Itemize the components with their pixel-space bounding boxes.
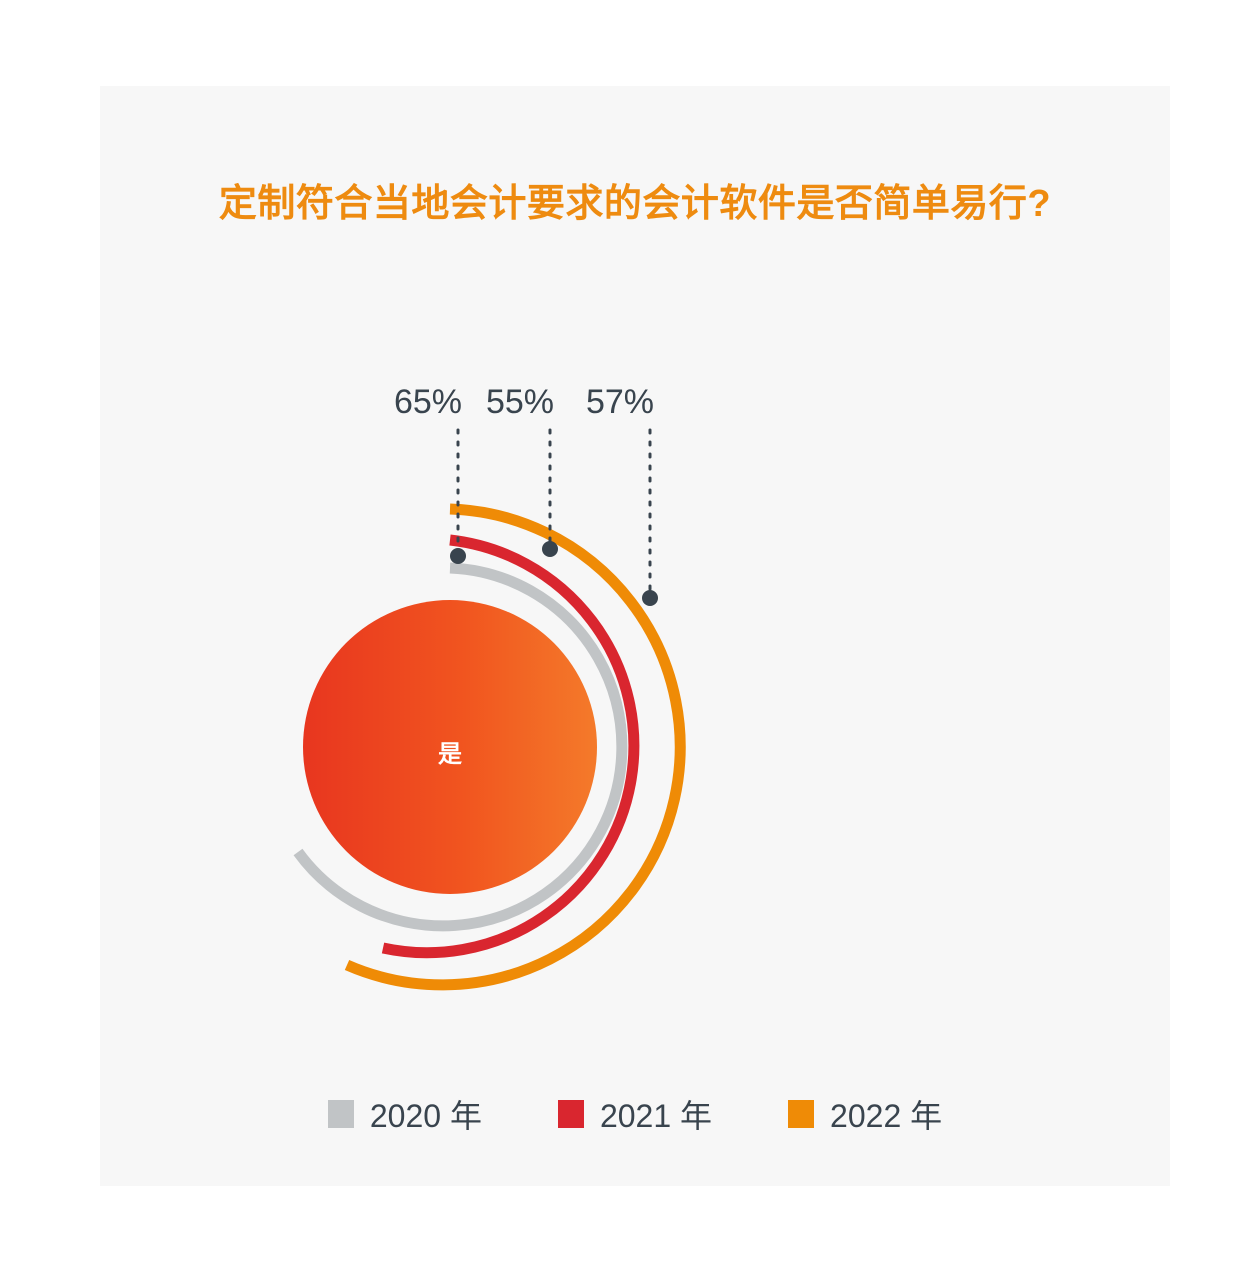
leader-dot-2022 [642, 590, 658, 606]
value-label-2022: 57% [560, 383, 680, 422]
legend-label-2020: 2020 年 [370, 1091, 482, 1137]
chart-legend: 2020 年 2021 年 2022 年 [100, 1091, 1170, 1137]
chart-panel: 定制符合当地会计要求的会计软件是否简单易行? [100, 86, 1170, 1186]
legend-item-2021[interactable]: 2021 年 [558, 1091, 712, 1137]
square-swatch-icon [558, 1100, 584, 1128]
legend-item-2020[interactable]: 2020 年 [328, 1091, 482, 1137]
center-label: 是 [350, 734, 550, 769]
leader-dot-2021 [542, 541, 558, 557]
chart-page: 定制符合当地会计要求的会计软件是否简单易行? [0, 0, 1248, 1280]
square-swatch-icon [328, 1100, 354, 1128]
legend-label-2022: 2022 年 [830, 1091, 942, 1137]
legend-item-2022[interactable]: 2022 年 [788, 1091, 942, 1137]
radial-chart-svg [100, 86, 1170, 1186]
leader-dot-2020 [450, 548, 466, 564]
legend-label-2021: 2021 年 [600, 1091, 712, 1137]
square-swatch-icon [788, 1100, 814, 1128]
